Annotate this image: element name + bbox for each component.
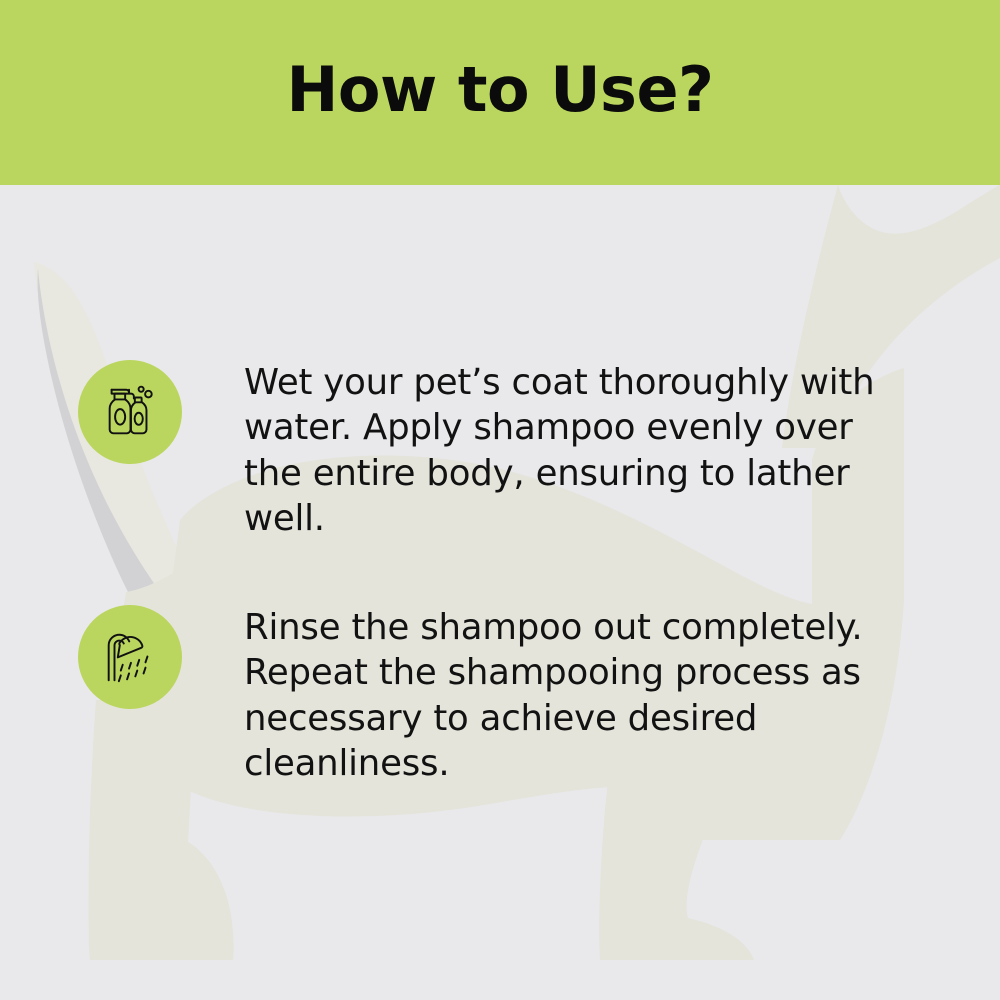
shower-head-icon [99, 626, 161, 688]
step-item-2: Rinse the shampoo out completely. Repeat… [78, 603, 916, 787]
step-item-1: Wet your pet’s coat thoroughly with wate… [78, 358, 916, 542]
step-1-text: Wet your pet’s coat thoroughly with wate… [244, 358, 916, 542]
poster-canvas: How to Use? [0, 0, 1000, 1000]
page-title: How to Use? [287, 59, 714, 127]
step-2-icon-badge [78, 605, 182, 709]
dog-rear-leg [599, 780, 754, 960]
shampoo-bottles-icon [99, 381, 161, 443]
header-band: How to Use? [0, 0, 1000, 185]
step-2-text: Rinse the shampoo out completely. Repeat… [244, 603, 916, 787]
step-1-icon-badge [78, 360, 182, 464]
